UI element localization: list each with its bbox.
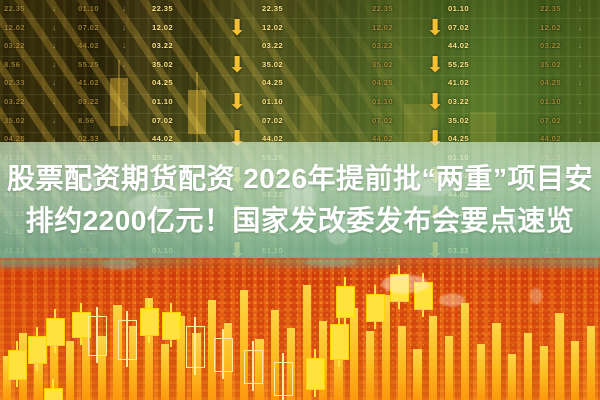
quote-value: 01.10 [78,0,99,19]
quote-value: 07.02 [152,112,173,131]
quote-value: 03.22 [78,93,99,112]
quote-value: 07.02 [78,19,99,38]
down-arrow-icon: ⬇ [228,56,246,75]
down-arrow-icon: ↓ [578,0,582,19]
quote-value: 02.33 [4,74,25,93]
down-arrow-icon: ↓ [122,112,126,131]
quote-value: 41.02 [448,74,469,93]
down-arrow-icon: ↓ [52,0,56,19]
quote-value: 35.02 [152,56,173,75]
quote-value: 07.02 [262,112,283,131]
quote-value: 03.22 [448,93,469,112]
quote-value: 01.10 [152,93,173,112]
down-arrow-icon: ⬇ [426,56,444,75]
down-arrow-icon: ↓ [578,93,582,112]
quote-value: 12.02 [4,19,25,38]
down-arrow-icon: ↓ [52,19,56,38]
quote-value: 35.02 [4,112,25,131]
down-arrow-icon: ↓ [52,74,56,93]
quote-value: 01.10 [448,0,469,19]
quote-value: 12.02 [540,19,561,38]
quote-value: 03.22 [4,93,25,112]
down-arrow-icon: ⬇ [228,19,246,38]
down-arrow-icon: ↓ [122,0,126,19]
quote-value: 07.02 [448,19,469,38]
quote-value: 03.22 [540,37,561,56]
quote-value: 22.35 [540,0,561,19]
headline-line-2: 排约2200亿元！国家发改委发布会要点速览 [26,201,575,241]
candlestick-bar-chart-panel [0,258,600,400]
down-arrow-icon: ↓ [122,37,126,56]
quote-value: 35.02 [540,56,561,75]
quote-value: 41.02 [78,74,99,93]
quote-value: 35.02 [262,56,283,75]
quote-value: 12.02 [372,19,393,38]
quote-value: 44.02 [448,37,469,56]
down-arrow-icon: ↓ [578,37,582,56]
quote-value: 01.10 [262,93,283,112]
quote-value: 12.02 [152,19,173,38]
quote-value: 22.35 [4,0,25,19]
down-arrow-icon: ↓ [52,37,56,56]
down-arrow-icon: ↓ [52,112,56,131]
quote-value: 22.35 [372,0,393,19]
headline-text: 股票配资期货配资 2026年提前批“两重”项目安 排约2200亿元！国家发改委发… [0,142,600,258]
headline-line-1: 股票配资期货配资 2026年提前批“两重”项目安 [7,159,593,199]
quote-value: 07.02 [540,112,561,131]
quote-value: 04.25 [152,74,173,93]
quote-value: 03.22 [372,37,393,56]
quote-value: 07.02 [372,112,393,131]
quote-value: 8.56 [78,112,99,131]
quote-value: 04.25 [262,74,283,93]
quote-value: 04.25 [372,74,393,93]
quote-value: 03.22 [262,37,283,56]
down-arrow-icon: ↓ [122,56,126,75]
down-arrow-icon: ↓ [52,56,56,75]
down-arrow-icon: ⬇ [228,93,246,112]
down-arrow-icon: ↓ [122,74,126,93]
quote-value: 55.25 [448,56,469,75]
world-map-silhouette [0,258,600,400]
quote-value: 04.25 [540,74,561,93]
quote-value: 55.25 [78,56,99,75]
quote-value: 35.02 [372,56,393,75]
quote-value: 01.10 [540,93,561,112]
quote-value: 35.02 [448,112,469,131]
quote-value: 03.22 [4,37,25,56]
down-arrow-icon: ⬇ [426,93,444,112]
quote-value: 22.35 [262,0,283,19]
quote-value: 12.02 [262,19,283,38]
quote-value: 03.22 [152,37,173,56]
quote-value: 22.35 [152,0,173,19]
down-arrow-icon: ↓ [122,93,126,112]
down-arrow-icon: ↓ [578,19,582,38]
down-arrow-icon: ↓ [52,93,56,112]
down-arrow-icon: ↓ [578,74,582,93]
down-arrow-icon: ↓ [122,19,126,38]
quote-value: 8.56 [4,56,25,75]
quote-value: 44.02 [78,37,99,56]
thumbnail-image: 22.3512.0203.228.5602.3303.2235.0204.250… [0,0,600,400]
down-arrow-icon: ↓ [578,56,582,75]
quote-value: 01.10 [372,93,393,112]
down-arrow-icon: ↓ [578,112,582,131]
down-arrow-icon: ⬇ [426,19,444,38]
